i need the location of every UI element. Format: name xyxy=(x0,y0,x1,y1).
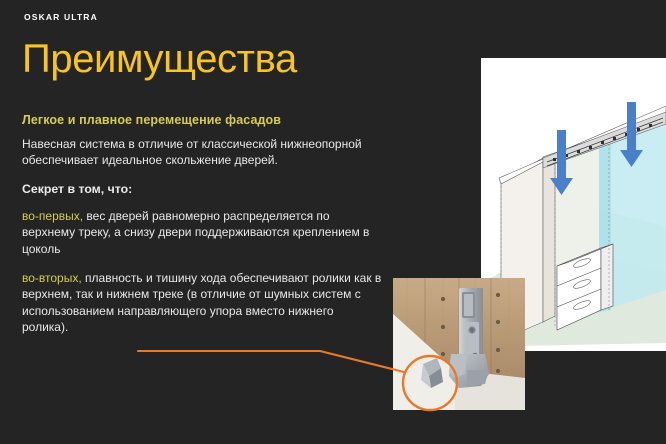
slide-root: OSKAR ULTRA Преимущества Легкое и плавно… xyxy=(0,0,666,444)
callout-line xyxy=(138,351,404,372)
point-2-accent: во-вторых, xyxy=(22,271,82,285)
point-2: во-вторых, плавность и тишину хода обесп… xyxy=(22,270,382,336)
lead-paragraph: Навесная система в отличие от классическ… xyxy=(22,136,382,169)
content-column: Легкое и плавное перемещение фасадов Нав… xyxy=(22,113,382,349)
roller-bracket-photo-svg xyxy=(393,278,525,410)
secret-label: Секрет в том, что: xyxy=(22,182,382,196)
point-1-accent: во-первых, xyxy=(22,209,83,223)
point-1: во-первых, вес дверей равномерно распред… xyxy=(22,208,382,257)
brand-label: OSKAR ULTRA xyxy=(24,12,98,22)
page-title: Преимущества xyxy=(22,39,297,79)
roller-bracket-photo xyxy=(393,278,525,410)
section-subheading: Легкое и плавное перемещение фасадов xyxy=(22,113,382,127)
